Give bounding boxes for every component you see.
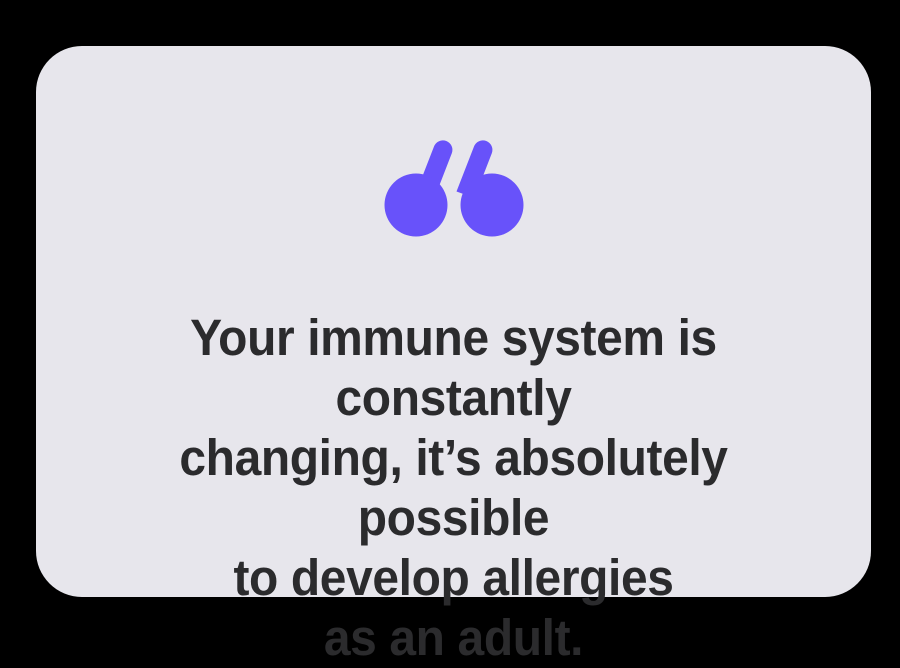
- quote-card: Your immune system is constantly changin…: [36, 46, 871, 597]
- quote-text: Your immune system is constantly changin…: [61, 308, 846, 668]
- double-quote-open-icon: [384, 136, 524, 238]
- page-background: Your immune system is constantly changin…: [0, 0, 900, 642]
